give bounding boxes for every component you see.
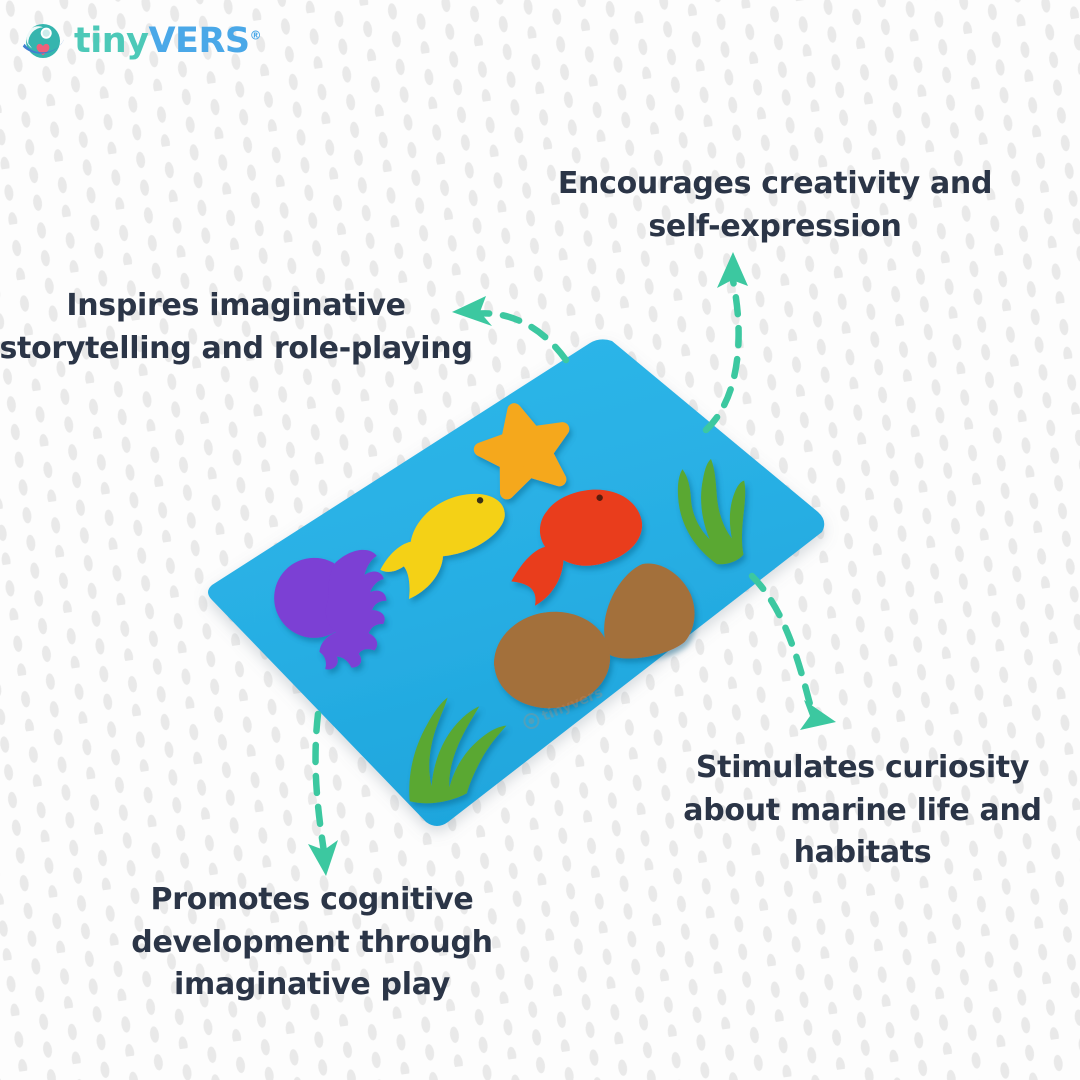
arrowhead-curiosity-icon (800, 700, 836, 730)
arrowhead-creativity-icon (717, 252, 748, 288)
brown-rock-large-piece (488, 604, 616, 715)
callout-curiosity-line2: about marine life and (665, 790, 1060, 833)
arrow-path-storytelling (474, 313, 566, 360)
brown-rock-small-piece (593, 556, 701, 663)
arrow-path-curiosity (752, 576, 812, 712)
infographic-canvas: tinyVERS® (0, 0, 1080, 1080)
callout-creativity-line1: Encourages creativity and (540, 163, 1010, 206)
tinyvers-baby-globe-logo-icon (20, 18, 66, 64)
red-fish-piece (493, 477, 657, 610)
green-seaweed-bottom-piece (379, 681, 525, 815)
purple-octopus-piece (267, 544, 401, 681)
registered-trademark-icon: ® (250, 28, 262, 42)
brand-logo[interactable]: tinyVERS® (20, 18, 261, 64)
yellow-fish-piece (365, 481, 522, 605)
callout-cognitive-line1: Promotes cognitive (112, 879, 512, 922)
arrow-path-cognitive (316, 714, 324, 852)
arrowhead-cognitive-icon (308, 840, 338, 876)
arrow-path-creativity (706, 276, 739, 430)
callout-storytelling-line2: storytelling and role-playing (0, 328, 476, 371)
callout-storytelling: Inspires imaginative storytelling and ro… (0, 285, 476, 370)
svg-text:tinyvers: tinyvers (540, 685, 606, 725)
callout-creativity-line2: self-expression (540, 206, 1010, 249)
brand-word-tiny: tiny (74, 21, 148, 61)
callout-creativity: Encourages creativity and self-expressio… (540, 163, 1010, 248)
callout-curiosity-line1: Stimulates curiosity (665, 747, 1060, 790)
green-seaweed-right-piece (671, 453, 760, 571)
callout-storytelling-line1: Inspires imaginative (0, 285, 476, 328)
callout-curiosity-line3: habitats (665, 832, 1060, 875)
callout-cognitive-line3: imaginative play (112, 964, 512, 1007)
brand-wordmark: tinyVERS® (74, 24, 261, 59)
starfish-piece (474, 400, 574, 496)
callout-cognitive: Promotes cognitive development through i… (112, 879, 512, 1007)
callout-cognitive-line2: development through (112, 922, 512, 965)
callout-curiosity: Stimulates curiosity about marine life a… (665, 747, 1060, 875)
brand-word-vers: VERS (148, 21, 249, 61)
mat-watermark: tinyvers (522, 685, 605, 732)
